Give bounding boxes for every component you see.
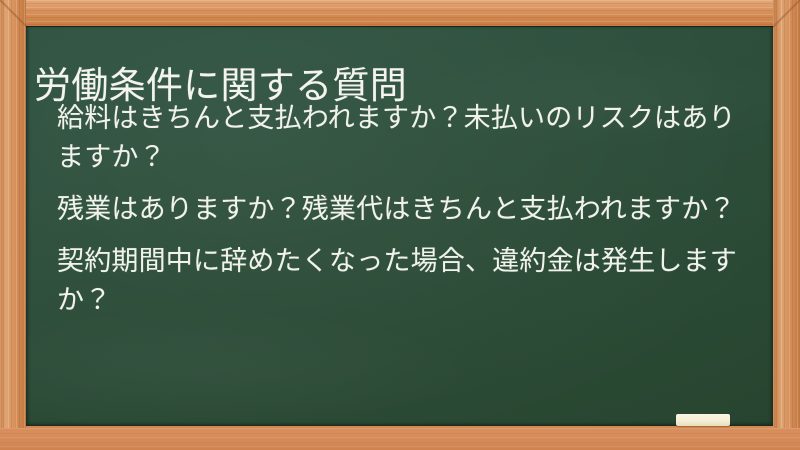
frame-rail-right [773, 0, 800, 450]
chalkboard-slide: 労働条件に関する質問 給料はきちんと支払われますか？未払いのリスクはありますか？… [0, 0, 800, 450]
chalkboard-surface: 労働条件に関する質問 給料はきちんと支払われますか？未払いのリスクはありますか？… [26, 26, 773, 426]
frame-rail-top [0, 0, 800, 26]
frame-rail-left [0, 0, 26, 450]
list-item: 残業はありますか？残業代はきちんと支払われますか？ [57, 190, 747, 229]
chalkboard-content: 労働条件に関する質問 給料はきちんと支払われますか？未払いのリスクはありますか？… [26, 26, 773, 426]
frame-ledge-bottom [0, 428, 800, 450]
question-list: 給料はきちんと支払われますか？未払いのリスクはありますか？ 残業はありますか？残… [57, 99, 747, 320]
list-item: 給料はきちんと支払われますか？未払いのリスクはありますか？ [57, 99, 747, 177]
list-item: 契約期間中に辞めたくなった場合、違約金は発生しますか？ [57, 242, 747, 320]
